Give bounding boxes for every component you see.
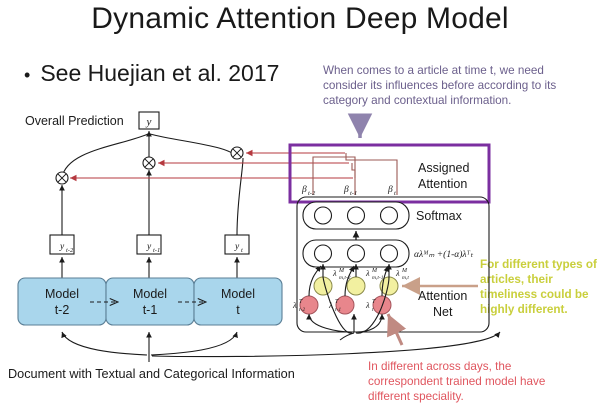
model-box-t1-name: Model: [133, 287, 167, 301]
lambda-t-nodes: [300, 296, 391, 314]
operator-node-t2: [56, 172, 68, 184]
operator-node-t1: [143, 157, 155, 169]
model-box-t2-name: Model: [45, 287, 79, 301]
beta-symbol-t: β: [387, 185, 393, 195]
lambda-t-symbol-t: λ: [365, 300, 370, 310]
model-box-t-time: t: [236, 303, 240, 317]
lambda-m-sup-t: M: [401, 268, 408, 274]
blend-layer: αλᴹₘ +(1-α)λᵀₜ: [303, 240, 473, 267]
beta-sub-t1: t-1: [350, 190, 357, 197]
softmax-node-t: [381, 207, 398, 224]
y-node-t1: y t-1: [137, 235, 161, 254]
lambda-t-sub-t1: t-1: [335, 307, 341, 313]
lambda-m-sub-t: m,t: [402, 275, 409, 281]
model-box-t2-time: t-2: [55, 303, 70, 317]
assigned-attention-label-1: Assigned: [418, 161, 469, 175]
lambda-m-symbol-t2: λ: [332, 268, 337, 278]
beta-sub-t2: t-2: [308, 190, 316, 197]
y-node-t-sub: t: [241, 247, 243, 254]
attention-weight-arrows: [70, 153, 353, 178]
bullet-marker: •: [24, 66, 30, 84]
y-node-t2-sub: t-2: [66, 247, 74, 254]
lambda-m-symbol-t1: λ: [365, 268, 370, 278]
operator-node-t: [231, 147, 243, 159]
lambda-t-sub-t2: t-2: [299, 307, 305, 313]
beta-symbol-t2: β: [301, 185, 307, 195]
blend-node-t1: [348, 245, 365, 262]
lambda-m-sup-t1: M: [371, 268, 378, 274]
slide-canvas: Dynamic Attention Deep Model • See Hueji…: [0, 0, 600, 414]
y-node-t1-label: y: [146, 242, 152, 252]
softmax-layer: Softmax: [303, 202, 463, 229]
softmax-label: Softmax: [416, 209, 463, 223]
softmax-node-t1: [348, 207, 365, 224]
architecture-diagram: Overall Prediction y: [0, 100, 600, 414]
model-box-t1-time: t-1: [143, 303, 158, 317]
y-node-t: y t: [225, 235, 249, 254]
attention-net-label-1: Attention: [418, 289, 467, 303]
lambda-t-symbol-t2: λ: [292, 300, 297, 310]
bullet-item: • See Huejian et al. 2017: [24, 60, 279, 87]
output-node-label: y: [146, 116, 152, 128]
beta-labels: β t-2 β t-1 β t: [301, 185, 396, 197]
y-node-t1-sub: t-1: [153, 247, 160, 254]
blend-node-t2: [315, 245, 332, 262]
lambda-m-labels: λ M m,t-2 λ M m,t-1 λ M m,t: [332, 268, 409, 281]
page-title: Dynamic Attention Deep Model: [0, 2, 600, 36]
lambda-m-sub-t1: m,t-1: [372, 275, 384, 281]
blend-formula: αλᴹₘ +(1-α)λᵀₜ: [414, 249, 473, 260]
y-node-t-label: y: [234, 242, 240, 252]
input-fanout: [62, 332, 500, 362]
beta-routing-lines: [313, 153, 397, 195]
model-box-t: Model t: [194, 278, 282, 325]
lambda-m-sup-t2: M: [338, 268, 345, 274]
input-caption: Document with Textual and Categorical In…: [8, 367, 295, 381]
beta-sub-t: t: [394, 190, 396, 197]
blend-node-t: [381, 245, 398, 262]
bullet-label: See Huejian et al. 2017: [40, 60, 279, 87]
attention-net-label-2: Net: [433, 305, 453, 319]
beta-symbol-t1: β: [343, 185, 349, 195]
lambda-m-symbol-t: λ: [395, 268, 400, 278]
softmax-node-t2: [315, 207, 332, 224]
y-node-t2: y t-2: [50, 235, 74, 254]
y-node-t2-label: y: [59, 242, 65, 252]
overall-prediction-label: Overall Prediction: [25, 114, 124, 128]
model-box-t-name: Model: [221, 287, 255, 301]
assigned-attention-label-2: Attention: [418, 177, 467, 191]
